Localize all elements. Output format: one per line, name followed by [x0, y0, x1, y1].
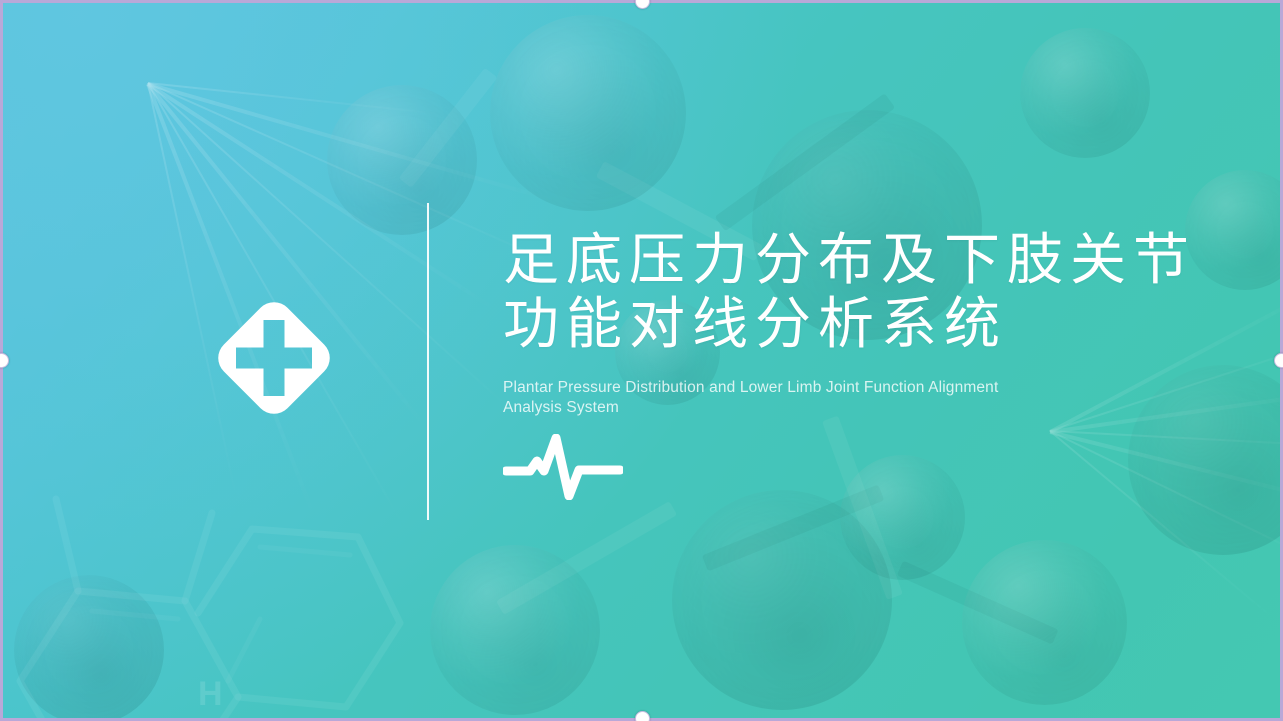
- slide-canvas[interactable]: H 足底压力分布及下肢关节功能对线分析系统 Plantar Pressure D…: [0, 0, 1283, 721]
- slide-subtitle-en: Plantar Pressure Distribution and Lower …: [503, 378, 1003, 418]
- molecule-atom: [490, 15, 686, 211]
- vertical-divider: [427, 203, 429, 520]
- molecule-atom: [962, 540, 1127, 705]
- slide-title-line1: 足底压力分布及下肢关节: [503, 228, 1196, 291]
- slide-title-line2: 功能对线分析系统: [503, 292, 1007, 355]
- handle-middle-right[interactable]: [1274, 353, 1283, 368]
- chemical-atom-label: H: [198, 675, 224, 714]
- molecule-atom: [1020, 28, 1150, 158]
- ecg-heartbeat-icon: [503, 434, 623, 500]
- chemical-skeleton: [0, 451, 480, 721]
- slide-title-cn: 足底压力分布及下肢关节功能对线分析系统: [503, 228, 1203, 356]
- title-text-block: 足底压力分布及下肢关节功能对线分析系统 Plantar Pressure Dis…: [503, 228, 1203, 500]
- ecg-icon-wrap: [503, 434, 623, 500]
- medical-cross-diamond-icon: [201, 285, 347, 431]
- molecule-atom: [327, 85, 477, 235]
- logo: [201, 285, 347, 431]
- handle-bottom-center[interactable]: [635, 711, 650, 721]
